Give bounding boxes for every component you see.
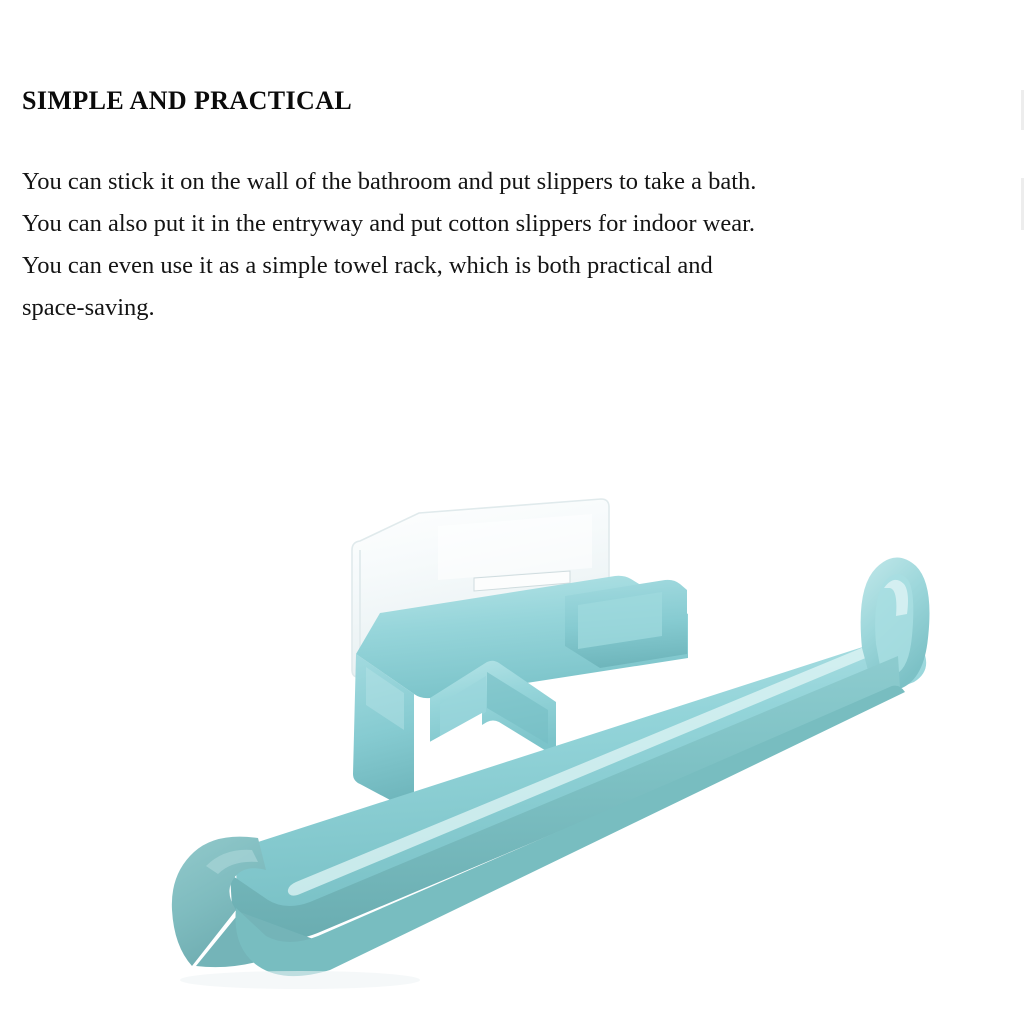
paragraph-line: You can stick it on the wall of the bath… (22, 161, 982, 203)
product-photo (0, 400, 1024, 1024)
description-paragraph: You can stick it on the wall of the bath… (22, 161, 982, 329)
paragraph-line: You can even use it as a simple towel ra… (22, 245, 982, 287)
description-text-block: SIMPLE AND PRACTICAL You can stick it on… (22, 86, 982, 329)
product-shadow (180, 971, 420, 989)
paragraph-line: You can also put it in the entryway and … (22, 203, 982, 245)
paragraph-line: space-saving. (22, 287, 982, 329)
product-description-page: SIMPLE AND PRACTICAL You can stick it on… (0, 0, 1024, 1024)
product-illustration (0, 400, 1024, 1024)
page-title: SIMPLE AND PRACTICAL (22, 86, 982, 115)
